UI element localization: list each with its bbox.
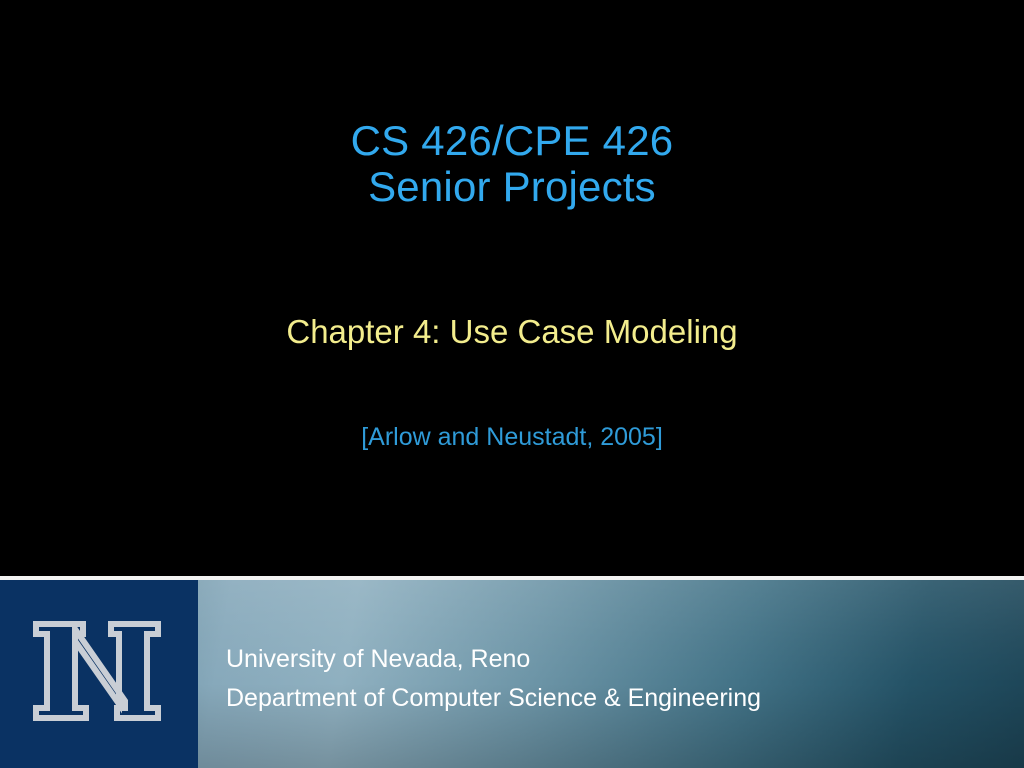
- footer-line-1: University of Nevada, Reno: [226, 640, 1006, 679]
- slide-subtitle: Chapter 4: Use Case Modeling: [0, 313, 1024, 351]
- title-line-2: Senior Projects: [0, 164, 1024, 210]
- title-line-1: CS 426/CPE 426: [0, 118, 1024, 164]
- slide-citation: [Arlow and Neustadt, 2005]: [0, 422, 1024, 452]
- unr-block-n-logo-icon: [33, 621, 161, 721]
- slide-title: CS 426/CPE 426 Senior Projects: [0, 118, 1024, 210]
- presentation-slide: CS 426/CPE 426 Senior Projects Chapter 4…: [0, 0, 1024, 768]
- citation-text: [Arlow and Neustadt, 2005]: [361, 423, 663, 451]
- subtitle-text: Chapter 4: Use Case Modeling: [286, 313, 737, 350]
- footer-line-2: Department of Computer Science & Enginee…: [226, 679, 1006, 718]
- logo-panel: [0, 580, 198, 768]
- footer-institution-text: University of Nevada, Reno Department of…: [226, 640, 1006, 718]
- slide-content-area: CS 426/CPE 426 Senior Projects Chapter 4…: [0, 0, 1024, 576]
- slide-footer: University of Nevada, Reno Department of…: [0, 576, 1024, 768]
